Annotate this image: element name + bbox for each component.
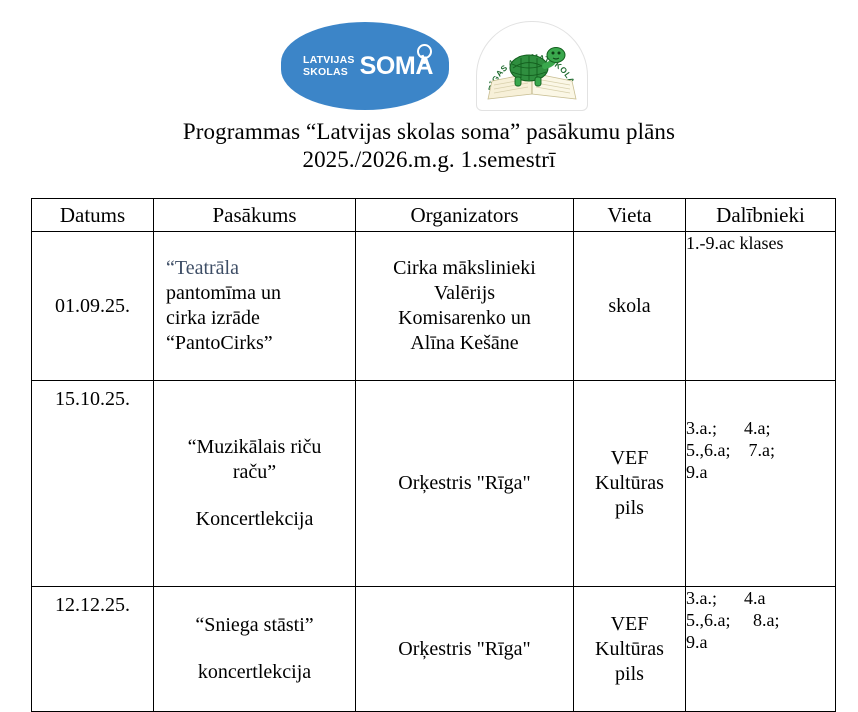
events-plan-table-wrapper: Datums Pasākums Organizators Vieta Dalīb…	[31, 198, 835, 712]
cell-pasakums-2-line2: raču”	[164, 460, 345, 485]
cell-vieta-2-line1: VEF	[574, 446, 685, 471]
cell-pasakums-2: “Muzikālais riču raču” Koncertlekcija	[154, 381, 356, 587]
table-row: 01.09.25. “Teatrāla pantomīma un cirka i…	[32, 232, 836, 381]
cell-vieta-3: VEF Kultūras pils	[574, 587, 686, 712]
cell-pasakums-3-spacer	[164, 638, 345, 660]
school-logo: RĪGAS 4. PAMATSKOLA	[476, 21, 588, 111]
cell-pasakums-1: “Teatrāla pantomīma un cirka izrāde “Pan…	[154, 232, 356, 381]
cell-vieta-3-line1: VEF	[574, 612, 685, 637]
column-header-pasakums: Pasākums	[154, 199, 356, 232]
cell-datums-3: 12.12.25.	[32, 587, 154, 712]
cell-vieta-1: skola	[574, 232, 686, 381]
cell-pasakums-1-line2: pantomīma un	[166, 281, 355, 306]
cell-pasakums-3: “Sniega stāsti” koncertlekcija	[154, 587, 356, 712]
cell-pasakums-1-line3: cirka izrāde	[166, 306, 355, 331]
page-title-line1: Programmas “Latvijas skolas soma” pasāku…	[0, 118, 858, 146]
table-header-row: Datums Pasākums Organizators Vieta Dalīb…	[32, 199, 836, 232]
cell-pasakums-1-line4: “PantoCirks”	[166, 331, 355, 356]
cell-vieta-2-line2: Kultūras	[574, 471, 685, 496]
column-header-vieta: Vieta	[574, 199, 686, 232]
turtle-icon	[503, 46, 567, 90]
cell-dalibnieki-2: 3.a.; 4.a; 5.,6.a; 7.a; 9.a	[686, 381, 836, 587]
column-header-organizators: Organizators	[356, 199, 574, 232]
cell-pasakums-2-line3: Koncertlekcija	[164, 507, 345, 532]
logo-banner: LATVIJAS SKOLAS SOMA RĪGAS 4. PAMATSKOLA	[0, 0, 858, 108]
cell-pasakums-3-line1: “Sniega stāsti”	[164, 613, 345, 638]
soma-logo-word: SOMA	[360, 52, 433, 81]
cell-organizators-1: Cirka mākslinieki Valērijs Komisarenko u…	[356, 232, 574, 381]
table-body: 01.09.25. “Teatrāla pantomīma un cirka i…	[32, 232, 836, 712]
column-header-dalibnieki: Dalībnieki	[686, 199, 836, 232]
cell-organizators-3: Orķestris "Rīga"	[356, 587, 574, 712]
cell-vieta-2-line3: pils	[574, 496, 685, 521]
cell-pasakums-2-spacer	[164, 485, 345, 507]
cell-dalibnieki-1: 1.-9.ac klases	[686, 232, 836, 381]
soma-logo-line2: SKOLAS	[303, 67, 355, 79]
cell-vieta-2: VEF Kultūras pils	[574, 381, 686, 587]
soma-logo-line1: LATVIJAS	[303, 55, 355, 67]
cell-datums-2: 15.10.25.	[32, 381, 154, 587]
latvijas-skolas-soma-logo: LATVIJAS SKOLAS SOMA	[281, 22, 449, 110]
cell-pasakums-1-line1: “Teatrāla	[166, 256, 355, 281]
column-header-datums: Datums	[32, 199, 154, 232]
cell-pasakums-2-line1: “Muzikālais riču	[164, 435, 345, 460]
cell-organizators-1-line3: Komisarenko un	[356, 306, 573, 331]
cell-organizators-1-line1: Cirka mākslinieki	[356, 256, 573, 281]
table-row: 12.12.25. “Sniega stāsti” koncertlekcija…	[32, 587, 836, 712]
cell-pasakums-3-line2: koncertlekcija	[164, 660, 345, 685]
cell-organizators-2: Orķestris "Rīga"	[356, 381, 574, 587]
cell-dalibnieki-3: 3.a.; 4.a 5.,6.a; 8.a; 9.a	[686, 587, 836, 712]
events-plan-table: Datums Pasākums Organizators Vieta Dalīb…	[31, 198, 836, 712]
cell-organizators-1-line4: Alīna Kešāne	[356, 331, 573, 356]
cell-vieta-3-line2: Kultūras	[574, 637, 685, 662]
cell-organizators-1-line2: Valērijs	[356, 281, 573, 306]
page-title-line2: 2025./2026.m.g. 1.semestrī	[0, 146, 858, 174]
backpack-person-icon	[417, 44, 432, 59]
table-header: Datums Pasākums Organizators Vieta Dalīb…	[32, 199, 836, 232]
table-row: 15.10.25. “Muzikālais riču raču” Koncert…	[32, 381, 836, 587]
page-title: Programmas “Latvijas skolas soma” pasāku…	[0, 118, 858, 174]
cell-vieta-3-line3: pils	[574, 662, 685, 687]
cell-datums-1: 01.09.25.	[32, 232, 154, 381]
